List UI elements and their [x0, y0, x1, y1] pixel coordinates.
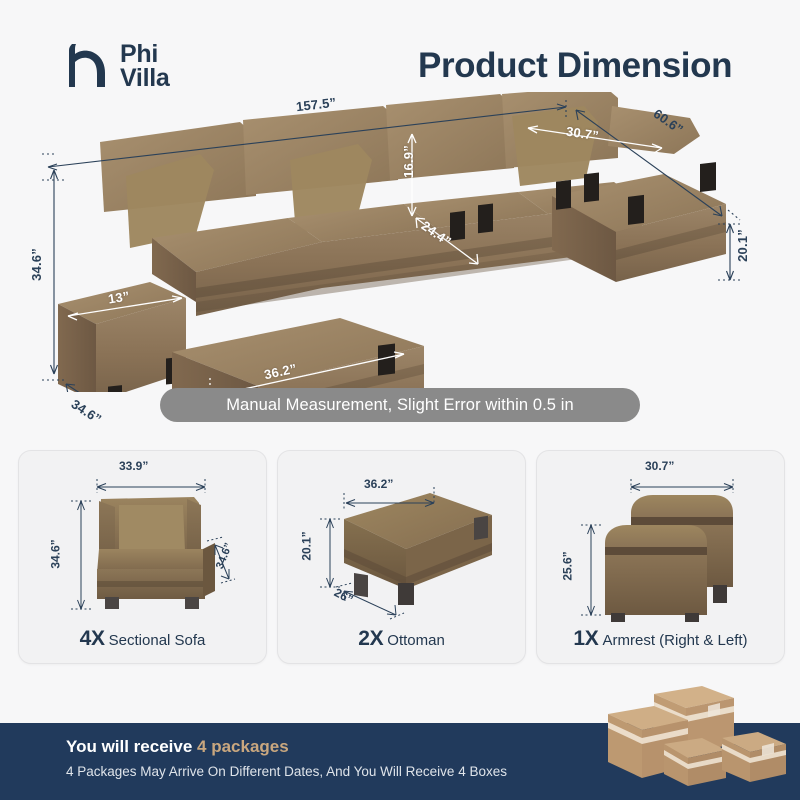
brand-logo: Phi Villa: [62, 40, 169, 92]
armrest-illustration: [537, 457, 784, 622]
card3-dim-width: 30.7”: [645, 459, 674, 473]
sofa-front-ottoman: [172, 318, 424, 392]
card3-dim-height: 25.6”: [561, 551, 575, 580]
dim-overall-height: 34.6”: [29, 248, 44, 281]
brand-name-line2: Villa: [120, 66, 169, 90]
product-dimension-infographic: Phi Villa Product Dimension: [0, 0, 800, 800]
component-cards: 33.9” 34.6” 34.6” 4XSectional Sofa: [0, 450, 800, 670]
footer-subtext: 4 Packages May Arrive On Different Dates…: [66, 764, 507, 779]
cardboard-boxes-icon: [598, 680, 798, 800]
sectional-sofa-illustration: [0, 92, 800, 392]
card2-dim-width: 36.2”: [364, 477, 393, 491]
card2-qty: 2X: [358, 627, 383, 650]
card2-dim-height: 20.1”: [300, 531, 314, 560]
card1-dim-height: 34.6”: [49, 539, 63, 568]
card-ottoman[interactable]: 36.2” 20.1” 26” 2XOttoman: [277, 450, 526, 664]
measurement-note-banner: Manual Measurement, Slight Error within …: [160, 388, 640, 422]
card1-caption: 4XSectional Sofa: [19, 627, 266, 651]
phi-villa-h-mark-icon: [62, 40, 112, 92]
footer-package-count: 4 packages: [197, 737, 289, 756]
dim-backrest-height: 16.9”: [401, 145, 416, 178]
card-armrest[interactable]: 30.7” 25.6” 1XArmrest (Right & Left): [536, 450, 785, 664]
brand-name-line1: Phi: [120, 42, 169, 66]
ottoman-illustration: [278, 457, 525, 622]
footer-headline: You will receive 4 packages: [66, 737, 289, 757]
footer-lead: You will receive: [66, 737, 192, 756]
card1-qty: 4X: [80, 627, 105, 650]
card3-qty: 1X: [573, 627, 598, 650]
hero-diagram: 157.5” 60.6” 34.6” 34.6” 13” 16.9” 24.4”…: [0, 92, 800, 392]
card3-name: Armrest (Right & Left): [603, 632, 748, 649]
card3-caption: 1XArmrest (Right & Left): [537, 627, 784, 651]
card2-name: Ottoman: [387, 632, 445, 649]
card1-name: Sectional Sofa: [109, 632, 206, 649]
card2-caption: 2XOttoman: [278, 627, 525, 651]
dim-base-depth: 34.6”: [69, 396, 105, 426]
card-sectional-sofa[interactable]: 33.9” 34.6” 34.6” 4XSectional Sofa: [18, 450, 267, 664]
card1-dim-width: 33.9”: [119, 459, 148, 473]
dim-seat-height: 20.1”: [735, 229, 750, 262]
sofa-right-chaise: [552, 162, 726, 282]
page-title: Product Dimension: [418, 46, 732, 86]
